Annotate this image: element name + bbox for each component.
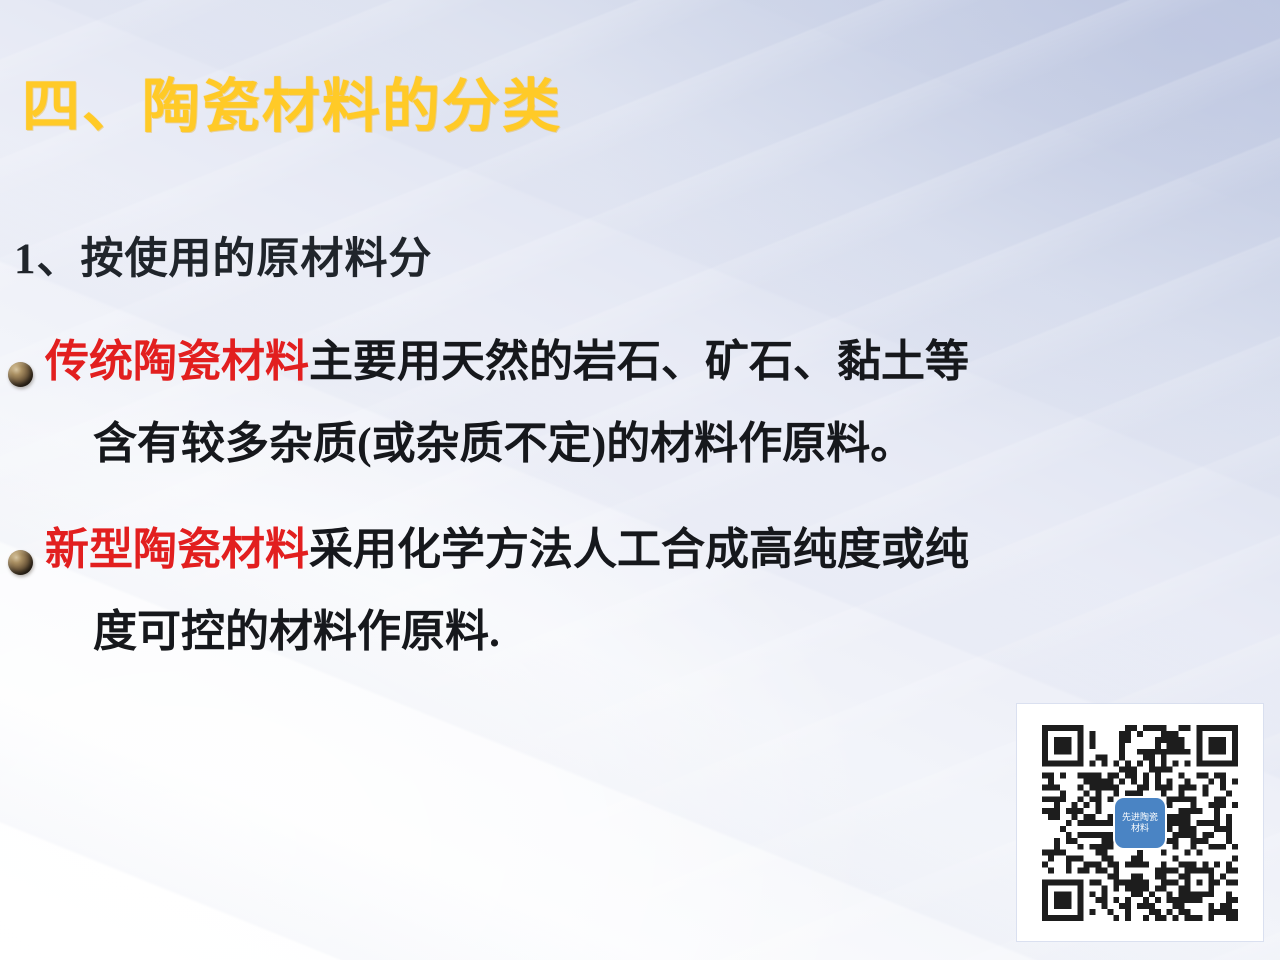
bullet-line-first-rest: 主要用天然的岩石、矿石、黏土等 [309,337,969,386]
bullet-row: 传统陶瓷材料主要用天然的岩石、矿石、黏土等 含有较多杂质(或杂质不定)的材料作原… [8,340,1168,466]
bullet-row: 新型陶瓷材料采用化学方法人工合成高纯度或纯 度可控的材料作原料. [8,528,1168,654]
bullet-line-first: 传统陶瓷材料主要用天然的岩石、矿石、黏土等 [45,340,1168,384]
section-subtitle: 1、按使用的原材料分 [14,238,433,281]
metallic-sphere-bullet-icon [8,362,33,387]
qr-code-image: 先进陶瓷 材料 [1042,725,1238,921]
qr-code-card: 先进陶瓷 材料 [1017,704,1263,941]
bullet-line-second: 含有较多杂质(或杂质不定)的材料作原料。 [93,422,1168,466]
qr-code-center-logo: 先进陶瓷 材料 [1115,798,1165,848]
bullet-text: 新型陶瓷材料采用化学方法人工合成高纯度或纯 度可控的材料作原料. [45,528,1168,654]
bullet-item-new-ceramics: 新型陶瓷材料采用化学方法人工合成高纯度或纯 度可控的材料作原料. [8,528,1168,654]
bullet-line-second: 度可控的材料作原料. [93,610,1168,654]
bullet-line-first: 新型陶瓷材料采用化学方法人工合成高纯度或纯 [45,528,1168,572]
page-title: 四、陶瓷材料的分类 [22,78,562,136]
bullet-line-first-rest: 采用化学方法人工合成高纯度或纯 [309,525,969,574]
presentation-slide: 四、陶瓷材料的分类 1、按使用的原材料分 传统陶瓷材料主要用天然的岩石、矿石、黏… [0,0,1280,960]
slide-content: 四、陶瓷材料的分类 1、按使用的原材料分 传统陶瓷材料主要用天然的岩石、矿石、黏… [0,0,1280,960]
bullet-item-traditional-ceramics: 传统陶瓷材料主要用天然的岩石、矿石、黏土等 含有较多杂质(或杂质不定)的材料作原… [8,340,1168,466]
bullet-lead-highlight: 新型陶瓷材料 [45,525,309,574]
qr-logo-line-1: 先进陶瓷 [1122,812,1158,823]
bullet-lead-highlight: 传统陶瓷材料 [45,337,309,386]
bullet-text: 传统陶瓷材料主要用天然的岩石、矿石、黏土等 含有较多杂质(或杂质不定)的材料作原… [45,340,1168,466]
metallic-sphere-bullet-icon [8,550,33,575]
qr-logo-line-2: 材料 [1131,823,1149,834]
